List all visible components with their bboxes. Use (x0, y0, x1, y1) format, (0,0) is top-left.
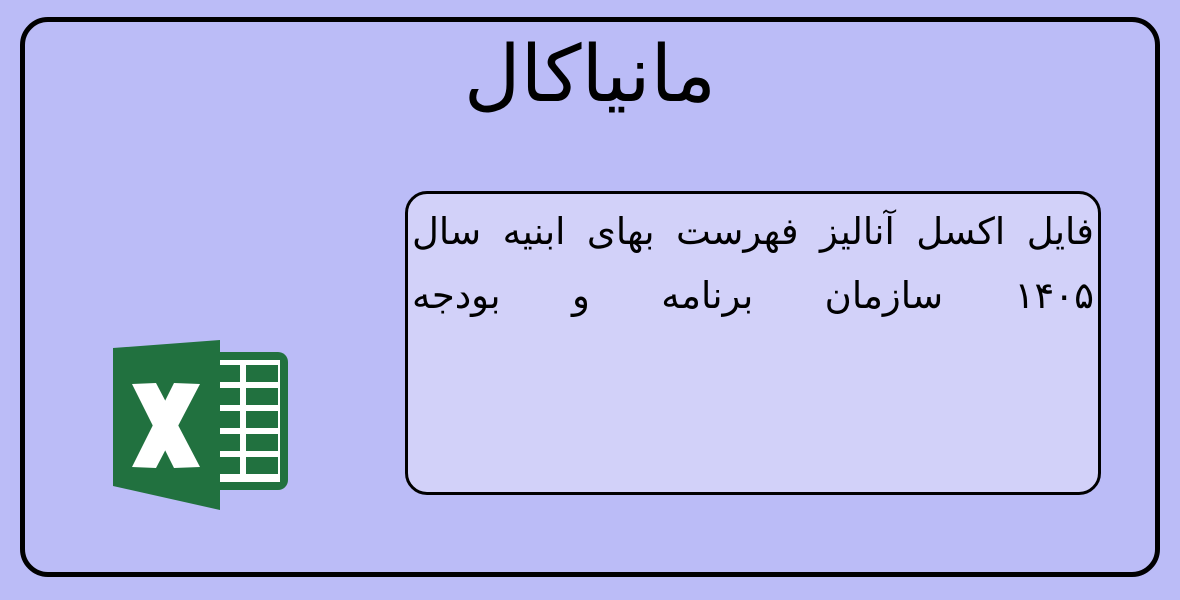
page-title: مانیاکال (0, 20, 1180, 130)
promo-card: مانیاکال فایل اکسل آنالیز فهرست بهای ابن… (0, 0, 1180, 600)
microsoft-excel-icon (108, 340, 298, 518)
description-box: فایل اکسل آنالیز فهرست بهای ابنیه سال ۱۴… (405, 191, 1101, 495)
description-text: فایل اکسل آنالیز فهرست بهای ابنیه سال ۱۴… (412, 200, 1094, 328)
